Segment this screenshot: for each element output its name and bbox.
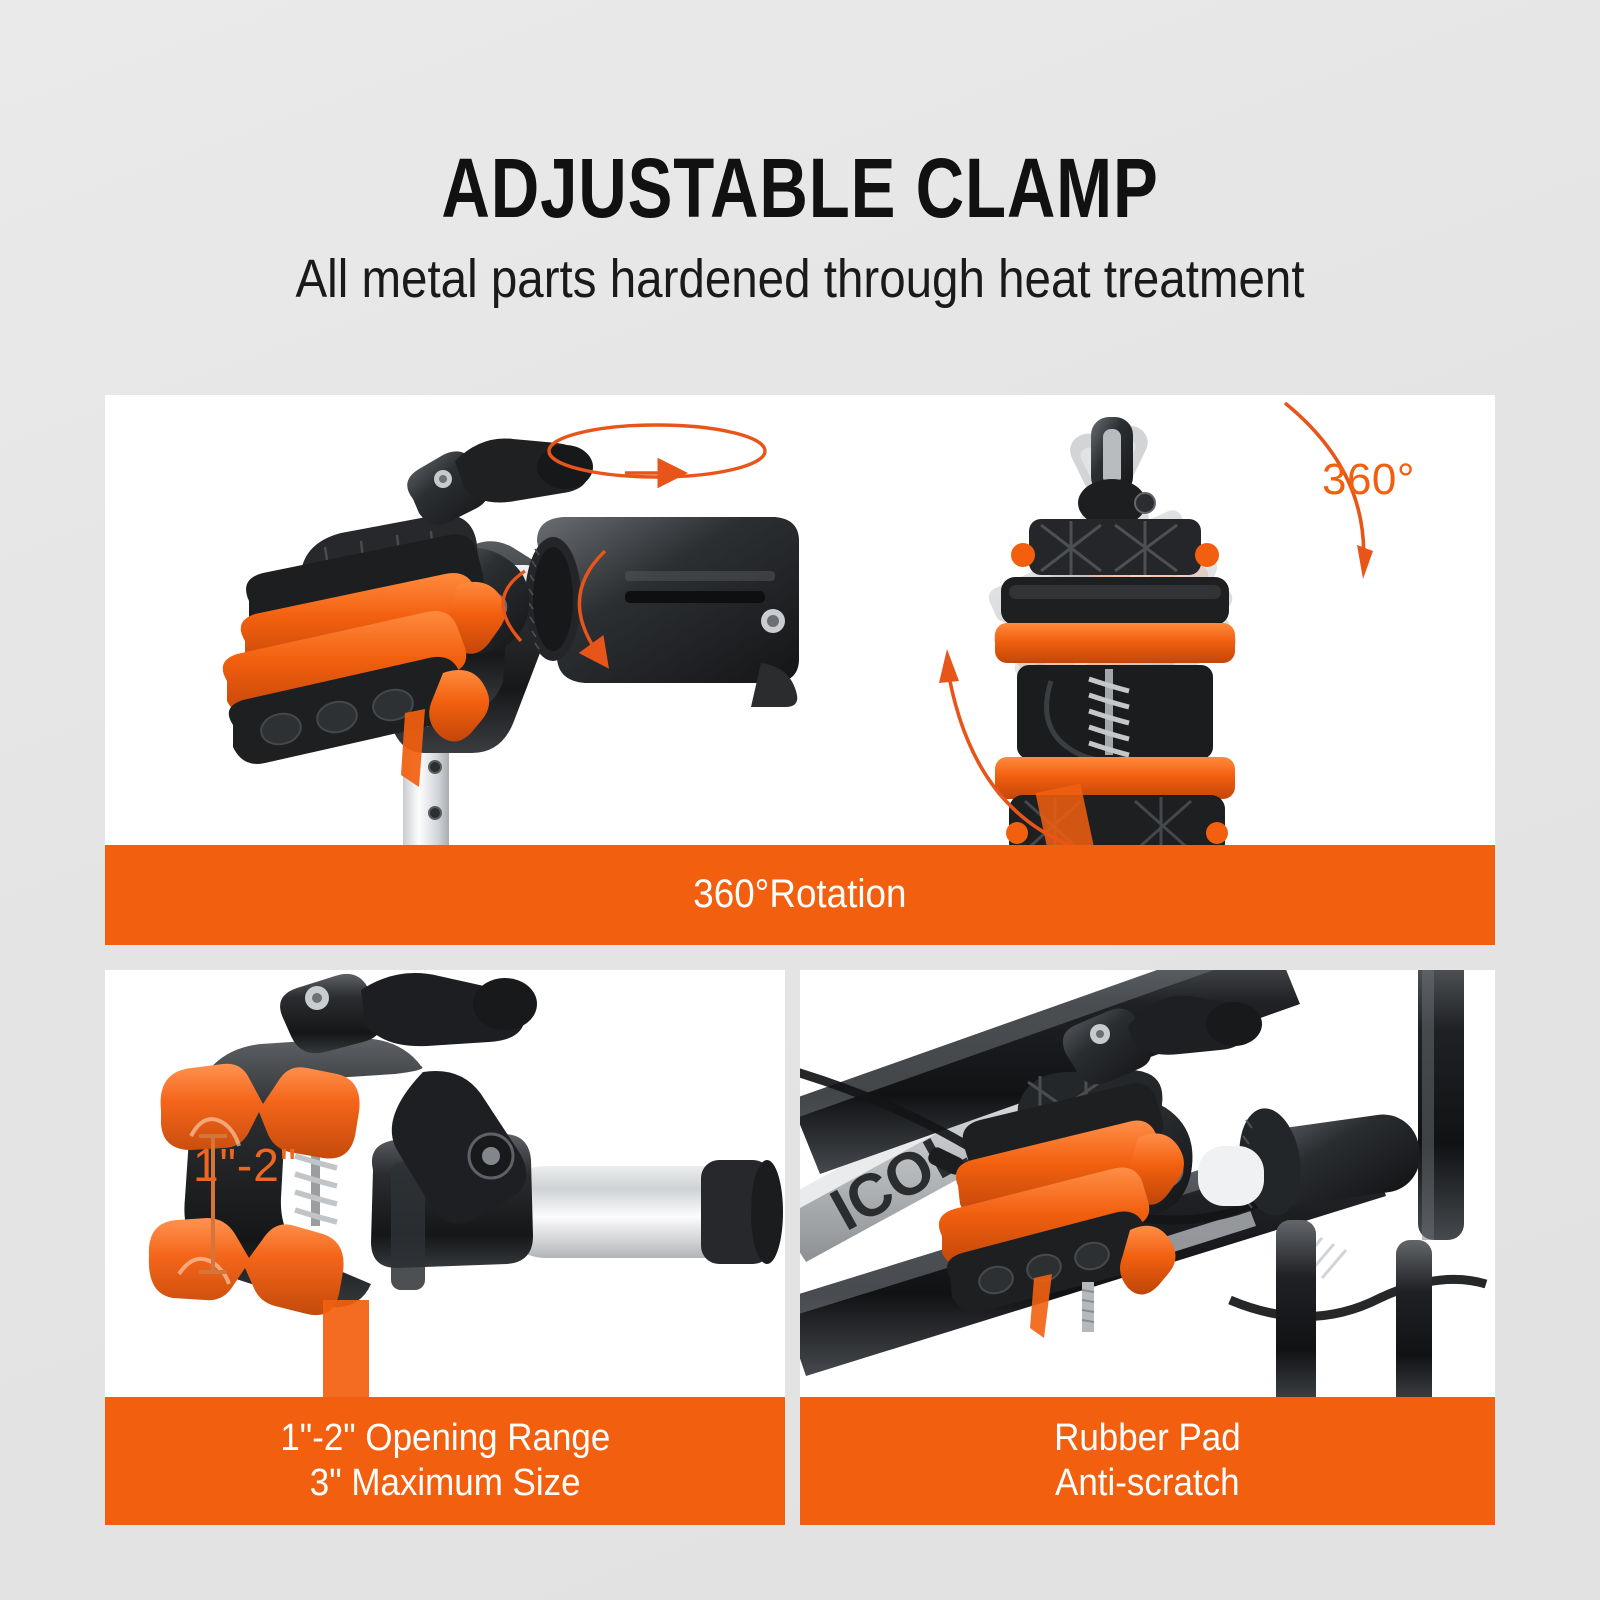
front-top-housing [1029, 519, 1201, 575]
clamp-bolt [1082, 1282, 1094, 1332]
caption-opening-range-line1: 1"-2" Opening Range [280, 1416, 610, 1461]
bike-frame-clamp-illustration: ICOL [800, 970, 1495, 1400]
caption-opening-range: 1"-2" Opening Range 3" Maximum Size [105, 1397, 785, 1525]
panel-360-rotation: 360° 360°Rotation [105, 395, 1495, 945]
clamp-side-view [223, 425, 799, 845]
page-subtitle: All metal parts hardened through heat tr… [96, 248, 1504, 310]
annotation-360-degrees: 360° [1322, 455, 1415, 505]
clamp-front-view [939, 403, 1373, 845]
page-title: ADJUSTABLE CLAMP [160, 140, 1440, 237]
caption-rubber-pad: Rubber Pad Anti-scratch [800, 1397, 1495, 1525]
caption-rubber-pad-line2: Anti-scratch [1055, 1461, 1240, 1506]
panel-rubber-pad: ICOL [800, 970, 1495, 1525]
jaw-brand-hangtag [323, 1300, 369, 1400]
annotation-opening-range: 1"-2" [193, 1138, 297, 1192]
quick-release-lever [407, 438, 593, 524]
header: ADJUSTABLE CLAMP All metal parts hardene… [0, 0, 1600, 380]
clamp-rotation-illustration [105, 395, 1495, 845]
caption-360-rotation-text: 360°Rotation [693, 871, 906, 918]
caption-opening-range-line2: 3" Maximum Size [310, 1461, 581, 1506]
stand-arm [1198, 1104, 1425, 1219]
caption-360-rotation: 360°Rotation [105, 845, 1495, 945]
caption-rubber-pad-line1: Rubber Pad [1054, 1416, 1241, 1461]
panel-opening-range: 1"-2" 1"-2" Opening Range 3" Maximum Siz… [105, 970, 785, 1525]
jaw-quick-release [280, 973, 537, 1053]
page-background: ADJUSTABLE CLAMP All metal parts hardene… [0, 0, 1600, 1600]
